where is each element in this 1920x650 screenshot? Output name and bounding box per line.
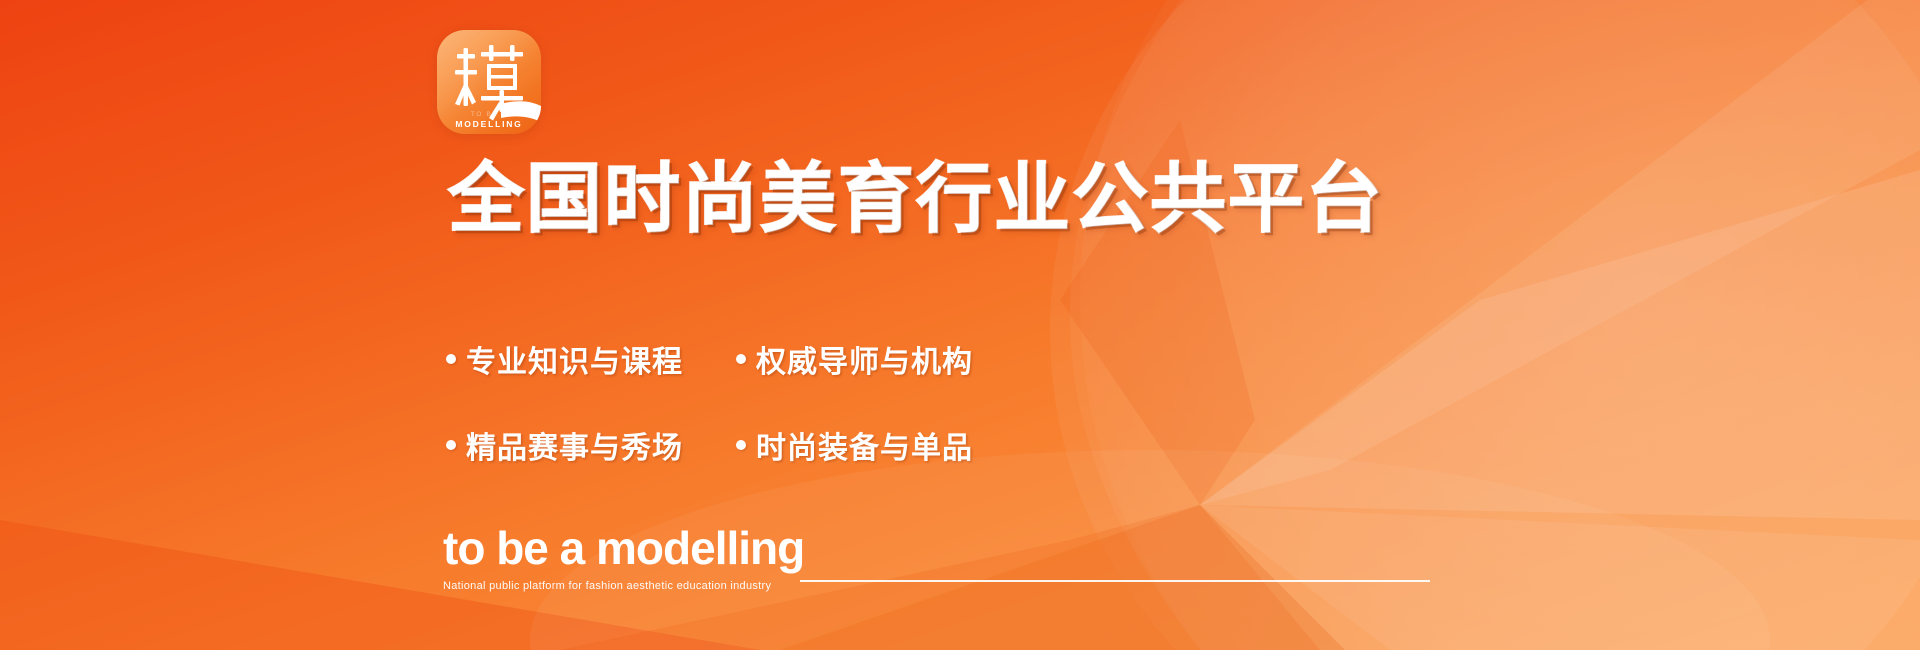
- wordmark-subtitle-text: National public platform for fashion aes…: [443, 578, 804, 594]
- feature-item-professional-knowledge[interactable]: 专业知识与课程: [446, 337, 736, 381]
- brand-logo[interactable]: TO BE A MODELLING: [437, 30, 541, 134]
- logo-tagline-main: MODELLING: [455, 119, 522, 129]
- feature-label: 时尚装备与单品: [756, 423, 973, 467]
- dot-bullet-icon: [736, 354, 746, 364]
- page-title: 全国时尚美育行业公共平台: [448, 152, 1384, 248]
- feature-list: 专业知识与课程 权威导师与机构 精品赛事与秀场 时尚装备与单品: [446, 330, 1066, 502]
- feature-label: 精品赛事与秀场: [466, 423, 683, 467]
- promotional-banner: TO BE A MODELLING 全国时尚美育行业公共平台 专业知识与课程 权…: [0, 0, 1920, 650]
- feature-item-authoritative-mentors[interactable]: 权威导师与机构: [736, 337, 1016, 381]
- horizontal-rule-divider: [800, 580, 1430, 582]
- wordmark-main-text: to be a modelling: [443, 523, 804, 573]
- feature-item-premium-competitions[interactable]: 精品赛事与秀场: [446, 423, 736, 467]
- feature-item-fashion-equipment[interactable]: 时尚装备与单品: [736, 423, 1016, 467]
- feature-row: 精品赛事与秀场 时尚装备与单品: [446, 416, 1066, 474]
- dot-bullet-icon: [446, 440, 456, 450]
- banner-content: TO BE A MODELLING 全国时尚美育行业公共平台 专业知识与课程 权…: [0, 0, 1920, 650]
- feature-label: 权威导师与机构: [756, 337, 973, 381]
- dot-bullet-icon: [446, 354, 456, 364]
- brand-wordmark: to be a modelling National public platfo…: [443, 523, 804, 594]
- feature-row: 专业知识与课程 权威导师与机构: [446, 330, 1066, 388]
- logo-tagline-small: TO BE A: [471, 111, 507, 118]
- feature-label: 专业知识与课程: [466, 337, 683, 381]
- dot-bullet-icon: [736, 440, 746, 450]
